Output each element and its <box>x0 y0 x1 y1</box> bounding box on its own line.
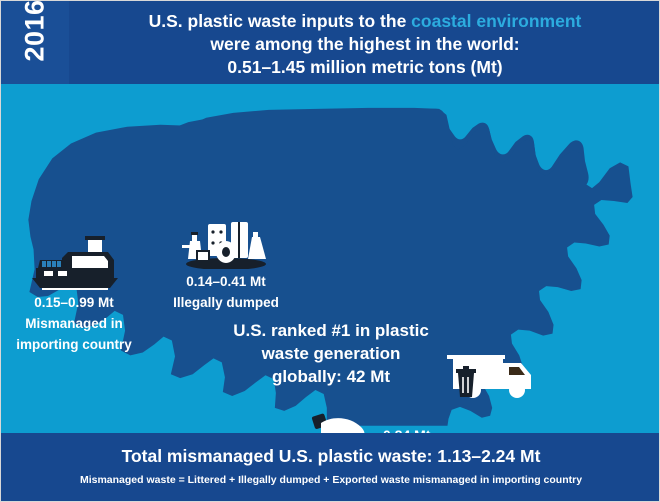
callout-illegally-dumped: 0.14–0.41 Mt Illegally dumped <box>156 219 296 311</box>
header-banner: 2016 U.S. plastic waste inputs to the co… <box>1 1 660 84</box>
year-label: 2016 <box>20 0 51 73</box>
center-statement: U.S. ranked #1 in plastic waste generati… <box>226 319 436 388</box>
footer-total-title: Total mismanaged U.S. plastic waste: 1.1… <box>1 446 660 467</box>
infographic-canvas: 2016 U.S. plastic waste inputs to the co… <box>0 0 660 502</box>
callout-mismanaged-importing: 0.15–0.99 Mt Mismanaged in importing cou… <box>1 236 147 353</box>
header-line-1-accent: coastal environment <box>411 11 581 31</box>
map-stage: 0.15–0.99 Mt Mismanaged in importing cou… <box>1 91 660 433</box>
header-headline: U.S. plastic waste inputs to the coastal… <box>69 10 660 79</box>
importing-label-line2: importing country <box>1 336 147 353</box>
importing-value: 0.15–0.99 Mt <box>1 294 147 311</box>
header-line-2: were among the highest in the world: <box>69 33 660 56</box>
header-line-1-prefix: U.S. plastic waste inputs to the <box>149 11 412 31</box>
center-statement-line-2: waste generation <box>226 342 436 365</box>
teal-divider-strip <box>1 84 660 91</box>
year-badge: 2016 <box>1 1 69 84</box>
importing-label-line1: Mismanaged in <box>1 315 147 332</box>
footer-banner: Total mismanaged U.S. plastic waste: 1.1… <box>1 433 660 502</box>
cargo-ship-icon <box>22 236 126 290</box>
header-line-3: 0.51–1.45 million metric tons (Mt) <box>69 56 660 79</box>
center-statement-line-1: U.S. ranked #1 in plastic <box>226 319 436 342</box>
center-statement-line-3: globally: 42 Mt <box>226 365 436 388</box>
dumped-label: Illegally dumped <box>156 294 296 311</box>
garbage-truck-icon <box>445 349 537 401</box>
dumped-value: 0.14–0.41 Mt <box>156 273 296 290</box>
header-line-1: U.S. plastic waste inputs to the coastal… <box>69 10 660 33</box>
dumped-junk-pile-icon <box>178 219 274 269</box>
footer-definition-note: Mismanaged waste = Littered + Illegally … <box>1 474 660 486</box>
